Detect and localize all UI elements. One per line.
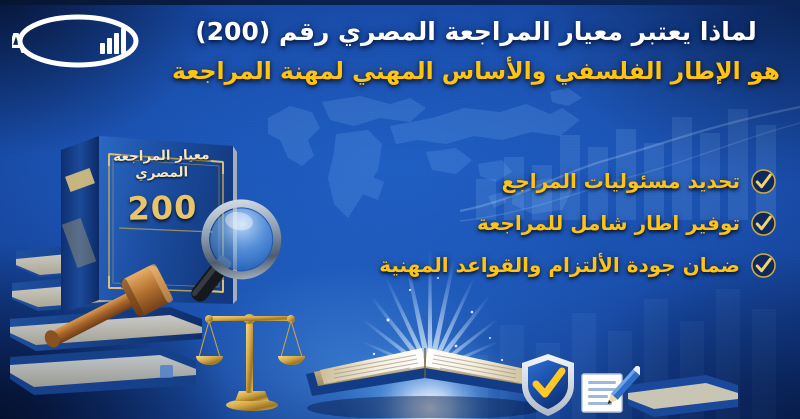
book-cover-text: معيار المراجعة المصري 200 (103, 147, 221, 225)
headline-line-1: لماذا يعتبر معيار المراجعة المصري رقم (2… (170, 14, 782, 50)
check-circle-icon (751, 211, 776, 236)
bar-chart-watermark-bottom (380, 269, 800, 419)
headline-block: لماذا يعتبر معيار المراجعة المصري رقم (2… (170, 14, 782, 88)
check-circle-icon (751, 169, 776, 194)
check-circle-icon (751, 253, 776, 278)
promo-banner: معيار المراجعة المصري 200 (0, 0, 800, 419)
list-item-label: ضمان جودة الألتزام والقواعد المهنية (379, 253, 740, 277)
ecpa-logo-bars (100, 28, 126, 54)
scales-of-justice (195, 283, 310, 413)
stacked-books (10, 215, 210, 400)
list-item-label: توفير اطار شامل للمراجعة (477, 211, 740, 235)
document-pencil-icon (578, 366, 640, 418)
stacked-books-right (628, 367, 738, 419)
judge-gavel (28, 248, 178, 378)
book-cover-number: 200 (104, 190, 221, 224)
list-item[interactable]: تحديد مسئوليات المراجع (418, 160, 778, 202)
list-item[interactable]: ضمان جودة الألتزام والقواعد المهنية (418, 244, 778, 286)
list-item-label: تحديد مسئوليات المراجع (502, 169, 740, 193)
ecpa-logo[interactable]: ECPA (12, 13, 144, 69)
book-cover-title-line2: المصري (104, 164, 220, 184)
ecpa-logo-text: ECPA (12, 28, 27, 60)
headline-line-2: هو الإطار الفلسفي والأساس المهني لمهنة ا… (170, 54, 782, 88)
list-item[interactable]: توفير اطار شامل للمراجعة (418, 202, 778, 244)
shield-check-badge (518, 352, 578, 418)
open-book-with-light-burst (300, 300, 550, 418)
benefits-list: تحديد مسئوليات المراجع توفير اطار شامل ل… (418, 160, 778, 286)
book-cover-title-line1: معيار المراجعة (103, 147, 219, 167)
top-strip (0, 0, 800, 5)
